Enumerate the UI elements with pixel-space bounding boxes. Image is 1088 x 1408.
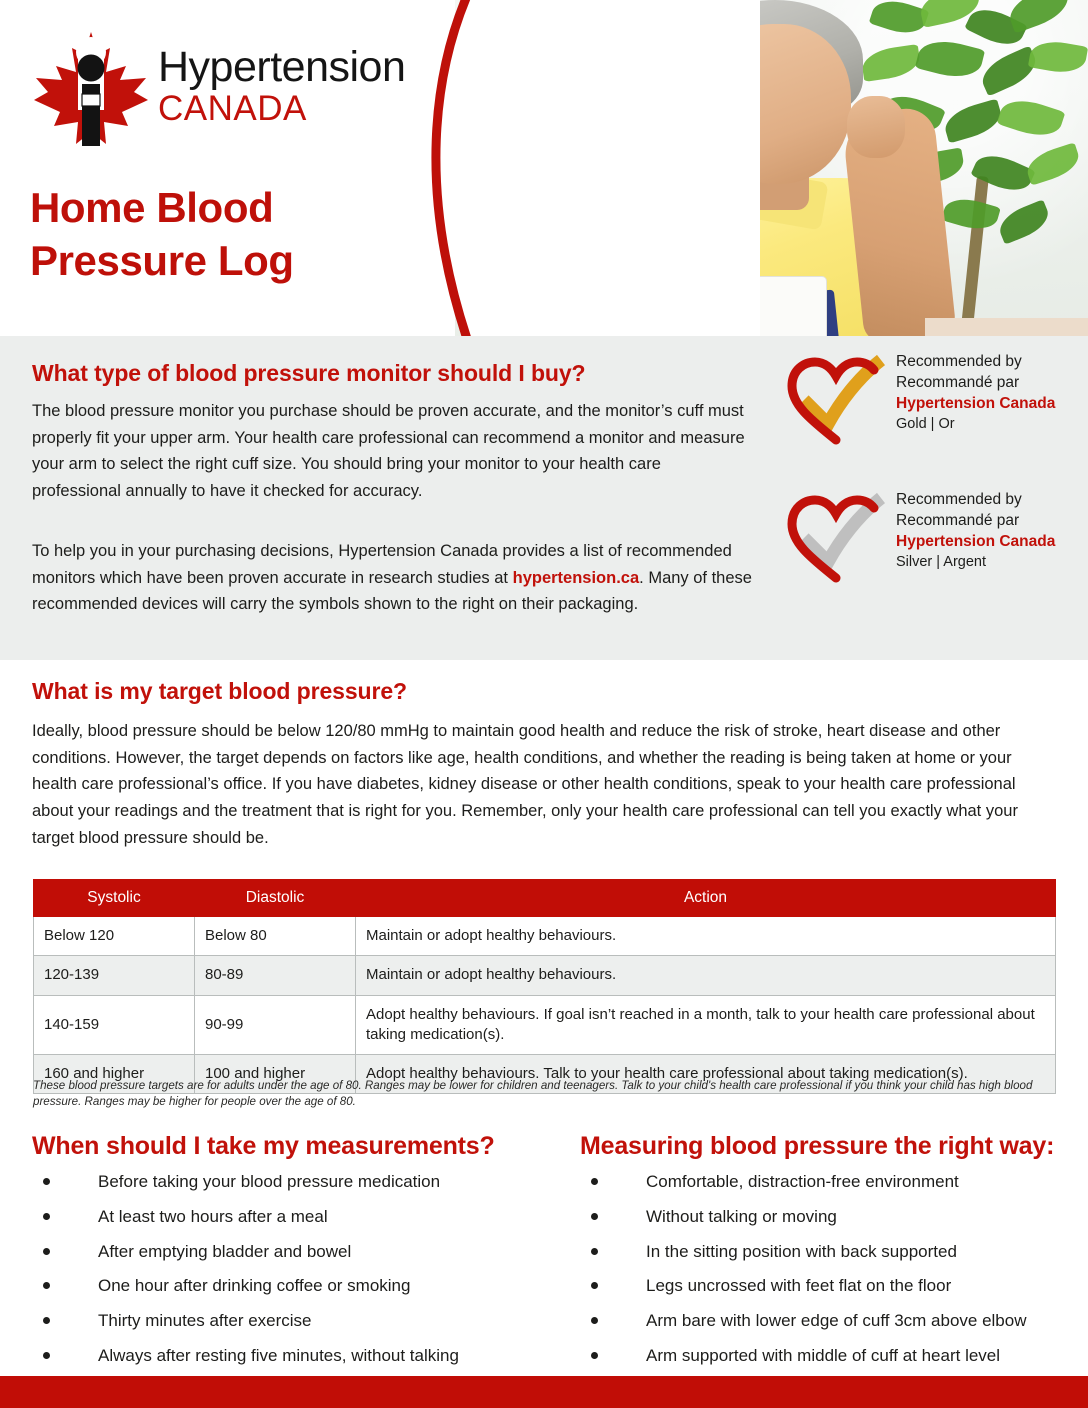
bullet-icon [43,1282,50,1289]
man-hand [847,96,905,158]
list-item-label: Comfortable, distraction-free environmen… [646,1172,959,1191]
list-item-label: One hour after drinking coffee or smokin… [98,1276,410,1295]
list-item-label: Before taking your blood pressure medica… [98,1172,440,1191]
badge-gold-text: Recommended by Recommandé par Hypertensi… [896,352,1055,434]
monitor-paragraph-2: To help you in your purchasing decisions… [32,538,752,618]
bullet-icon [43,1248,50,1255]
cell-diastolic: 80-89 [195,956,356,995]
list-item-label: Arm supported with middle of cuff at hea… [646,1346,1000,1365]
cell-systolic: 120-139 [34,956,195,995]
target-section-heading: What is my target blood pressure? [32,678,407,705]
cell-diastolic: Below 80 [195,917,356,956]
monitor-section-heading: What type of blood pressure monitor shou… [32,360,586,387]
badge-gold-line2: Recommandé par [896,373,1055,394]
list-item: At least two hours after a meal [32,1206,552,1228]
list-item: Legs uncrossed with feet flat on the flo… [580,1275,1080,1297]
bullet-icon [591,1178,598,1185]
list-item: After emptying bladder and bowel [32,1241,552,1263]
column-header-systolic: Systolic [34,880,195,917]
hypertension-ca-link[interactable]: hypertension.ca [513,569,640,587]
badge-gold-level: Gold | Or [896,415,1055,435]
target-section-body: Ideally, blood pressure should be below … [32,718,1056,852]
badge-gold-line1: Recommended by [896,352,1055,373]
table-header-row: Systolic Diastolic Action [34,880,1056,917]
badge-silver-line2: Recommandé par [896,511,1055,532]
page-root: Hypertension CANADA Home Blood Pressure … [0,0,1088,1408]
list-item-label: After emptying bladder and bowel [98,1242,351,1261]
recommended-badges: Recommended by Recommandé par Hypertensi… [784,348,1074,624]
logo-canada-text: CANADA [158,91,405,126]
man-face [705,24,851,184]
monitor-paragraph-1: The blood pressure monitor you purchase … [32,398,752,505]
bullet-icon [591,1213,598,1220]
page-title-line2: Pressure Log [30,235,294,288]
badge-gold-org: Hypertension Canada [896,394,1055,415]
monitor-section: What type of blood pressure monitor shou… [0,336,1088,660]
list-item: In the sitting position with back suppor… [580,1241,1080,1263]
cell-action: Maintain or adopt healthy behaviours. [356,917,1056,956]
list-item-label: Without talking or moving [646,1207,837,1226]
table-row: 120-139 80-89 Maintain or adopt healthy … [34,956,1056,995]
table-footnote: These blood pressure targets are for adu… [33,1078,1056,1111]
table-edge [925,318,1088,336]
header-photo [455,0,1088,336]
logo-hypertension-text: Hypertension [158,46,405,89]
list-item: Arm supported with middle of cuff at hea… [580,1345,1080,1367]
heart-check-gold-icon [784,354,888,446]
column-header-action: Action [356,880,1056,917]
cell-action: Adopt healthy behaviours. If goal isn’t … [356,995,1056,1055]
list-item: Arm bare with lower edge of cuff 3cm abo… [580,1310,1080,1332]
bullet-icon [43,1178,50,1185]
bullet-icon [591,1248,598,1255]
right-way-column: Measuring blood pressure the right way: … [580,1132,1080,1367]
woman-hair-front [543,4,635,96]
cell-action: Maintain or adopt healthy behaviours. [356,956,1056,995]
heart-check-silver-icon [784,492,888,584]
bp-targets-table: Systolic Diastolic Action Below 120 Belo… [33,879,1056,1094]
badge-silver-line1: Recommended by [896,490,1055,511]
when-to-measure-heading: When should I take my measurements? [32,1132,552,1161]
badge-gold: Recommended by Recommandé par Hypertensi… [784,348,1074,468]
badge-silver-org: Hypertension Canada [896,532,1055,553]
page-header: Hypertension CANADA Home Blood Pressure … [0,0,1088,336]
list-item-label: Thirty minutes after exercise [98,1311,312,1330]
cell-diastolic: 90-99 [195,995,356,1055]
list-item: Without talking or moving [580,1206,1080,1228]
list-item-label: At least two hours after a meal [98,1207,328,1226]
bullet-icon [591,1317,598,1324]
list-item: Thirty minutes after exercise [32,1310,552,1332]
cell-systolic: 140-159 [34,995,195,1055]
list-item-label: In the sitting position with back suppor… [646,1242,957,1261]
footer-bar [0,1376,1088,1408]
list-item: Before taking your blood pressure medica… [32,1171,552,1193]
logo-wordmark: Hypertension CANADA [158,46,405,126]
when-to-measure-list: Before taking your blood pressure medica… [32,1171,552,1367]
woman-hand-upper [663,256,727,314]
bullet-icon [43,1317,50,1324]
header-left-panel: Hypertension CANADA Home Blood Pressure … [0,0,470,336]
bullet-icon [43,1213,50,1220]
list-item-label: Arm bare with lower edge of cuff 3cm abo… [646,1311,1027,1330]
list-item-label: Always after resting five minutes, witho… [98,1346,459,1365]
right-way-heading: Measuring blood pressure the right way: [580,1132,1080,1161]
table-row: Below 120 Below 80 Maintain or adopt hea… [34,917,1056,956]
page-title: Home Blood Pressure Log [30,182,294,288]
page-title-line1: Home Blood [30,182,294,235]
list-item: One hour after drinking coffee or smokin… [32,1275,552,1297]
badge-silver-level: Silver | Argent [896,553,1055,573]
badge-silver-text: Recommended by Recommandé par Hypertensi… [896,490,1055,572]
list-item-label: Legs uncrossed with feet flat on the flo… [646,1276,951,1295]
cell-systolic: Below 120 [34,917,195,956]
list-item: Always after resting five minutes, witho… [32,1345,552,1367]
badge-silver: Recommended by Recommandé par Hypertensi… [784,486,1074,606]
bp-monitor-device [737,276,827,336]
bullet-icon [43,1352,50,1359]
bullet-icon [591,1282,598,1289]
table-row: 140-159 90-99 Adopt healthy behaviours. … [34,995,1056,1055]
monitor-section-body: The blood pressure monitor you purchase … [32,398,752,618]
bullet-icon [591,1352,598,1359]
right-way-list: Comfortable, distraction-free environmen… [580,1171,1080,1367]
when-to-measure-column: When should I take my measurements? Befo… [32,1132,552,1367]
maple-leaf-person-icon [30,28,152,158]
list-item: Comfortable, distraction-free environmen… [580,1171,1080,1193]
target-section: What is my target blood pressure? Ideall… [0,660,1088,904]
column-header-diastolic: Diastolic [195,880,356,917]
hypertension-canada-logo: Hypertension CANADA [30,28,400,158]
